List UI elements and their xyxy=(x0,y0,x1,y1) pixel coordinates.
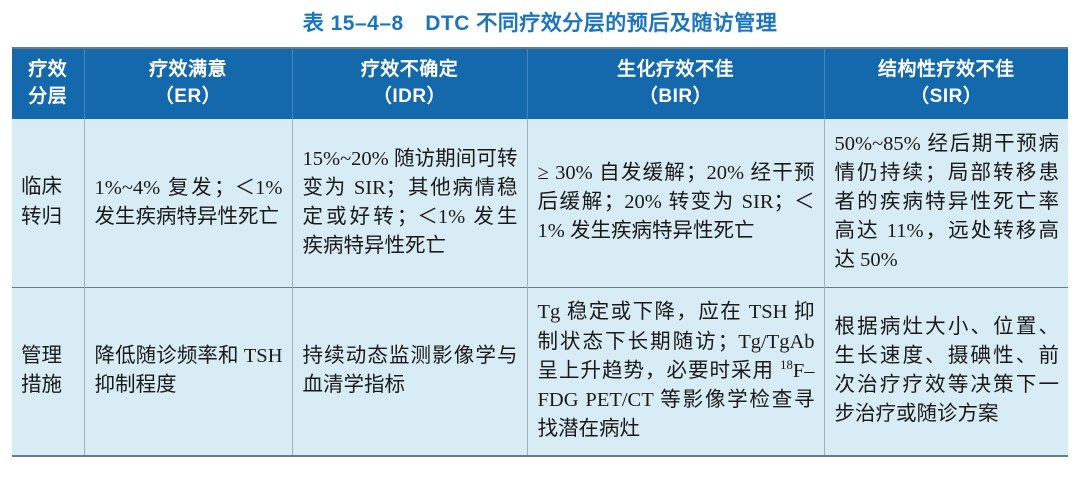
table-container: 疗效 分层 疗效满意 （ER） 疗效不确定 （IDR） 生化疗效不佳 （BIR）… xyxy=(12,47,1068,457)
cell-management-sir: 根据病灶大小、位置、生长速度、摄碘性、前次治疗疗效等决策下一步治疗或随诊方案 xyxy=(824,287,1068,455)
column-header-bir-line1: 生化疗效不佳 xyxy=(532,57,820,83)
cell-clinical-sir: 50%~85% 经后期干预病情仍持续；局部转移患者的疾病特异性死亡率高达 11%… xyxy=(824,119,1068,287)
column-header-stratum: 疗效 分层 xyxy=(12,49,84,119)
table-row: 临床 转归 1%~4% 复发；＜1% 发生疾病特异性死亡 15%~20% 随访期… xyxy=(12,119,1068,287)
cell-clinical-er: 1%~4% 复发；＜1% 发生疾病特异性死亡 xyxy=(84,119,292,287)
isotope-superscript-18: 18 xyxy=(780,358,793,372)
cell-clinical-bir-text: ≥ 30% 自发缓解；20% 经干预后缓解；20% 转变为 SIR；＜ 1% 发… xyxy=(538,162,815,242)
table-row: 管理 措施 降低随诊频率和 TSH 抑制程度 持续动态监测影像学与血清学指标 T… xyxy=(12,287,1068,455)
row-label-management-measures-line1: 管理 xyxy=(21,342,80,372)
column-header-er: 疗效满意 （ER） xyxy=(84,49,292,119)
prognosis-table: 疗效 分层 疗效满意 （ER） 疗效不确定 （IDR） 生化疗效不佳 （BIR）… xyxy=(12,49,1068,455)
cell-management-bir-text-pre: Tg 稳定或下降，应在 TSH 抑制状态下长期随访；Tg/TgAb 呈上升趋势，… xyxy=(538,301,815,381)
row-label-management-measures-line2: 措施 xyxy=(21,371,80,401)
column-header-idr: 疗效不确定 （IDR） xyxy=(292,49,527,119)
header-row: 疗效 分层 疗效满意 （ER） 疗效不确定 （IDR） 生化疗效不佳 （BIR）… xyxy=(12,49,1068,119)
cell-management-idr: 持续动态监测影像学与血清学指标 xyxy=(292,287,527,455)
table-body: 临床 转归 1%~4% 复发；＜1% 发生疾病特异性死亡 15%~20% 随访期… xyxy=(12,119,1068,455)
table-caption: 表 15–4–8 DTC 不同疗效分层的预后及随访管理 xyxy=(0,0,1080,47)
cell-management-bir: Tg 稳定或下降，应在 TSH 抑制状态下长期随访；Tg/TgAb 呈上升趋势，… xyxy=(527,287,824,455)
column-header-stratum-line1: 疗效 xyxy=(16,57,80,83)
column-header-er-line2: （ER） xyxy=(89,84,288,110)
row-label-clinical-outcome-line1: 临床 xyxy=(21,173,80,203)
cell-clinical-idr: 15%~20% 随访期间可转变为 SIR；其他病情稳定或好转；＜1% 发生疾病特… xyxy=(292,119,527,287)
column-header-stratum-line2: 分层 xyxy=(16,84,80,110)
cell-management-er: 降低随诊频率和 TSH 抑制程度 xyxy=(84,287,292,455)
row-label-clinical-outcome-line2: 转归 xyxy=(21,203,80,233)
cell-clinical-bir: ≥ 30% 自发缓解；20% 经干预后缓解；20% 转变为 SIR；＜ 1% 发… xyxy=(527,119,824,287)
column-header-bir-line2: （BIR） xyxy=(532,84,820,110)
column-header-bir: 生化疗效不佳 （BIR） xyxy=(527,49,824,119)
column-header-sir: 结构性疗效不佳 （SIR） xyxy=(824,49,1068,119)
table-header: 疗效 分层 疗效满意 （ER） 疗效不确定 （IDR） 生化疗效不佳 （BIR）… xyxy=(12,49,1068,119)
row-label-clinical-outcome: 临床 转归 xyxy=(12,119,84,287)
row-label-management-measures: 管理 措施 xyxy=(12,287,84,455)
column-header-idr-line2: （IDR） xyxy=(297,84,523,110)
column-header-sir-line2: （SIR） xyxy=(829,84,1065,110)
column-header-er-line1: 疗效满意 xyxy=(89,57,288,83)
column-header-idr-line1: 疗效不确定 xyxy=(297,57,523,83)
column-header-sir-line1: 结构性疗效不佳 xyxy=(829,57,1065,83)
